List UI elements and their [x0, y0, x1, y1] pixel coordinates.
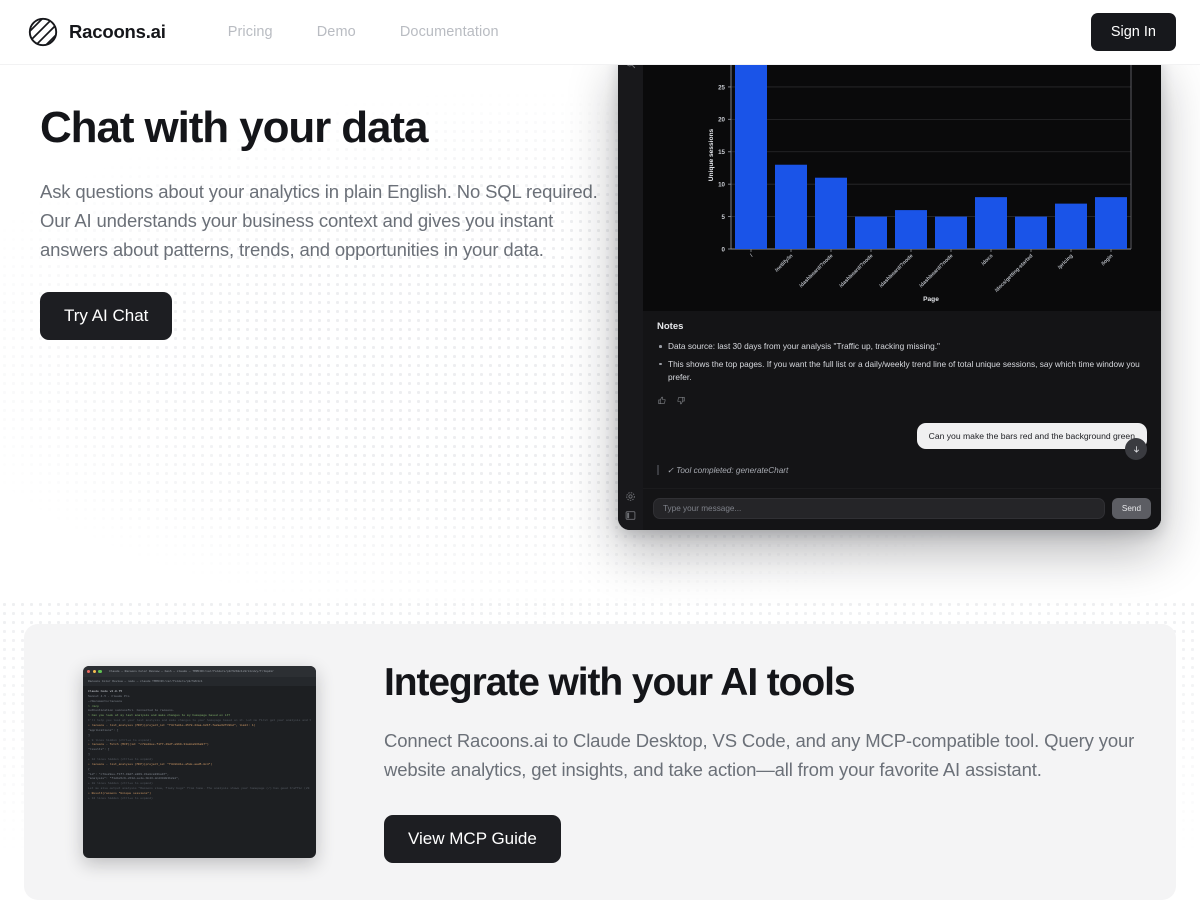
landing-page: Racoons.ai Pricing Demo Documentation Si… [0, 0, 1200, 900]
view-mcp-guide-button[interactable]: View MCP Guide [384, 815, 561, 863]
chat-app-preview: 051015202529Unique sessions//netlify/in/… [618, 53, 1161, 530]
terminal-tab[interactable]: Racoons Color Review — node — claude TMP… [83, 677, 316, 686]
send-button[interactable]: Send [1112, 498, 1151, 519]
terminal-tab-title: Racoons Color Review — node — claude TMP… [88, 680, 203, 683]
notes-block: Notes Data source: last 30 days from you… [643, 311, 1161, 393]
mcp-section: Claude — Racoons Color Review — bash — c… [24, 624, 1176, 900]
hatched-circle-logo-icon [28, 17, 58, 47]
brand[interactable]: Racoons.ai [28, 17, 166, 47]
mcp-copy-column: Integrate with your AI tools Connect Rac… [326, 661, 1146, 862]
svg-text:0: 0 [722, 246, 726, 253]
chat-body: 051015202529Unique sessions//netlify/in/… [643, 53, 1161, 530]
arrow-down-icon [1132, 445, 1141, 454]
hero-title: Chat with your data [40, 103, 620, 152]
app-sidebar-rail [618, 53, 643, 530]
svg-text:5: 5 [722, 214, 726, 221]
try-ai-chat-button[interactable]: Try AI Chat [40, 292, 172, 340]
chart-card: 051015202529Unique sessions//netlify/in/… [643, 53, 1161, 311]
assistant-response-title: Unique sessions by page — red bars, gree… [643, 475, 1161, 488]
user-message-bubble: Can you make the bars red and the backgr… [917, 423, 1147, 449]
user-message-row: Can you make the bars red and the backgr… [643, 415, 1161, 455]
brand-name: Racoons.ai [69, 21, 166, 43]
thumbs-down-icon[interactable] [676, 396, 685, 405]
scroll-to-bottom-button[interactable] [1125, 438, 1147, 460]
terminal-line: + 34 lines hidden (ctrl+o to expand) [88, 797, 311, 802]
hero-body: Ask questions about your analytics in pl… [40, 178, 600, 264]
notes-heading: Notes [657, 321, 1147, 332]
thumbs-up-icon[interactable] [658, 396, 667, 405]
message-composer: Send [643, 488, 1161, 530]
hero-section: Chat with your data Ask questions about … [0, 65, 620, 340]
nav-item-pricing[interactable]: Pricing [228, 24, 273, 40]
bar-chart-svg: 051015202529Unique sessions//netlify/in/… [653, 59, 1151, 307]
notes-list: Data source: last 30 days from your anal… [657, 340, 1147, 384]
gear-icon[interactable] [625, 491, 636, 502]
sign-in-button[interactable]: Sign In [1091, 13, 1176, 51]
mcp-body: Connect Racoons.ai to Claude Desktop, VS… [384, 727, 1146, 784]
window-close-dot[interactable] [87, 670, 90, 673]
svg-text:Unique sessions: Unique sessions [708, 128, 715, 181]
svg-text:Page: Page [923, 296, 939, 303]
chat-scroll-area[interactable]: 051015202529Unique sessions//netlify/in/… [643, 53, 1161, 488]
message-input[interactable] [653, 498, 1105, 519]
note-item: This shows the top pages. If you want th… [657, 358, 1147, 384]
window-zoom-dot[interactable] [98, 670, 101, 673]
bar-chart: 051015202529Unique sessions//netlify/in/… [653, 59, 1151, 307]
nav-item-documentation[interactable]: Documentation [400, 24, 499, 40]
svg-text:20: 20 [718, 117, 725, 124]
site-header: Racoons.ai Pricing Demo Documentation Si… [0, 0, 1200, 65]
svg-text:15: 15 [718, 149, 725, 156]
svg-text:25: 25 [718, 84, 725, 91]
svg-text:10: 10 [718, 182, 725, 189]
tool-status: ✓ Tool completed: generateChart [657, 465, 1161, 475]
terminal-window-title: Claude — Racoons Color Review — bash — c… [109, 670, 274, 673]
terminal-titlebar: Claude — Racoons Color Review — bash — c… [83, 666, 316, 677]
sidebar-panel-icon[interactable] [625, 510, 636, 521]
feedback-controls [643, 393, 1161, 415]
terminal-output: Claude Code v2.0.75Sonnet 4.5 · Claude P… [83, 686, 316, 806]
nav-item-demo[interactable]: Demo [317, 24, 356, 40]
window-minimize-dot[interactable] [93, 670, 96, 673]
terminal-column: Claude — Racoons Color Review — bash — c… [24, 666, 326, 858]
terminal-screenshot: Claude — Racoons Color Review — bash — c… [83, 666, 316, 858]
main-nav: Pricing Demo Documentation [228, 24, 499, 40]
mcp-title: Integrate with your AI tools [384, 661, 1146, 705]
note-item: Data source: last 30 days from your anal… [657, 340, 1147, 353]
